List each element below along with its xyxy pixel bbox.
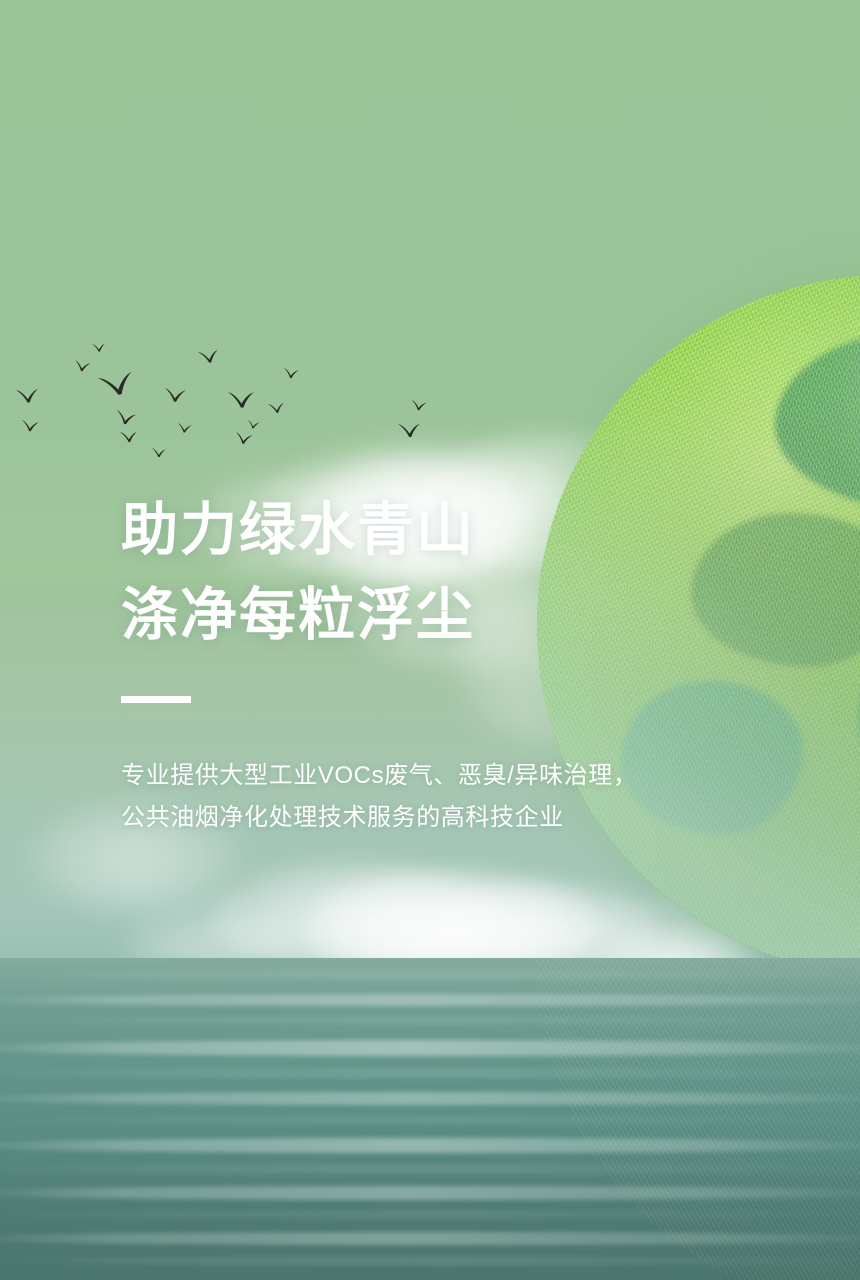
subtitle-line-2: 公共油烟净化处理技术服务的高科技企业 — [121, 797, 741, 839]
subtitle-line-1: 专业提供大型工业VOCs废气、恶臭/异味治理， — [121, 755, 741, 797]
water-surface — [0, 958, 860, 1280]
water-overlay — [0, 958, 860, 1280]
headline-line-1: 助力绿水青山 — [121, 488, 741, 573]
headline-divider — [121, 696, 191, 703]
headline-line-2: 涤净每粒浮尘 — [121, 573, 741, 658]
hero-copy: 助力绿水青山 涤净每粒浮尘 专业提供大型工业VOCs废气、恶臭/异味治理， 公共… — [121, 488, 741, 839]
banner-root: 助力绿水青山 涤净每粒浮尘 专业提供大型工业VOCs废气、恶臭/异味治理， 公共… — [0, 0, 860, 1280]
